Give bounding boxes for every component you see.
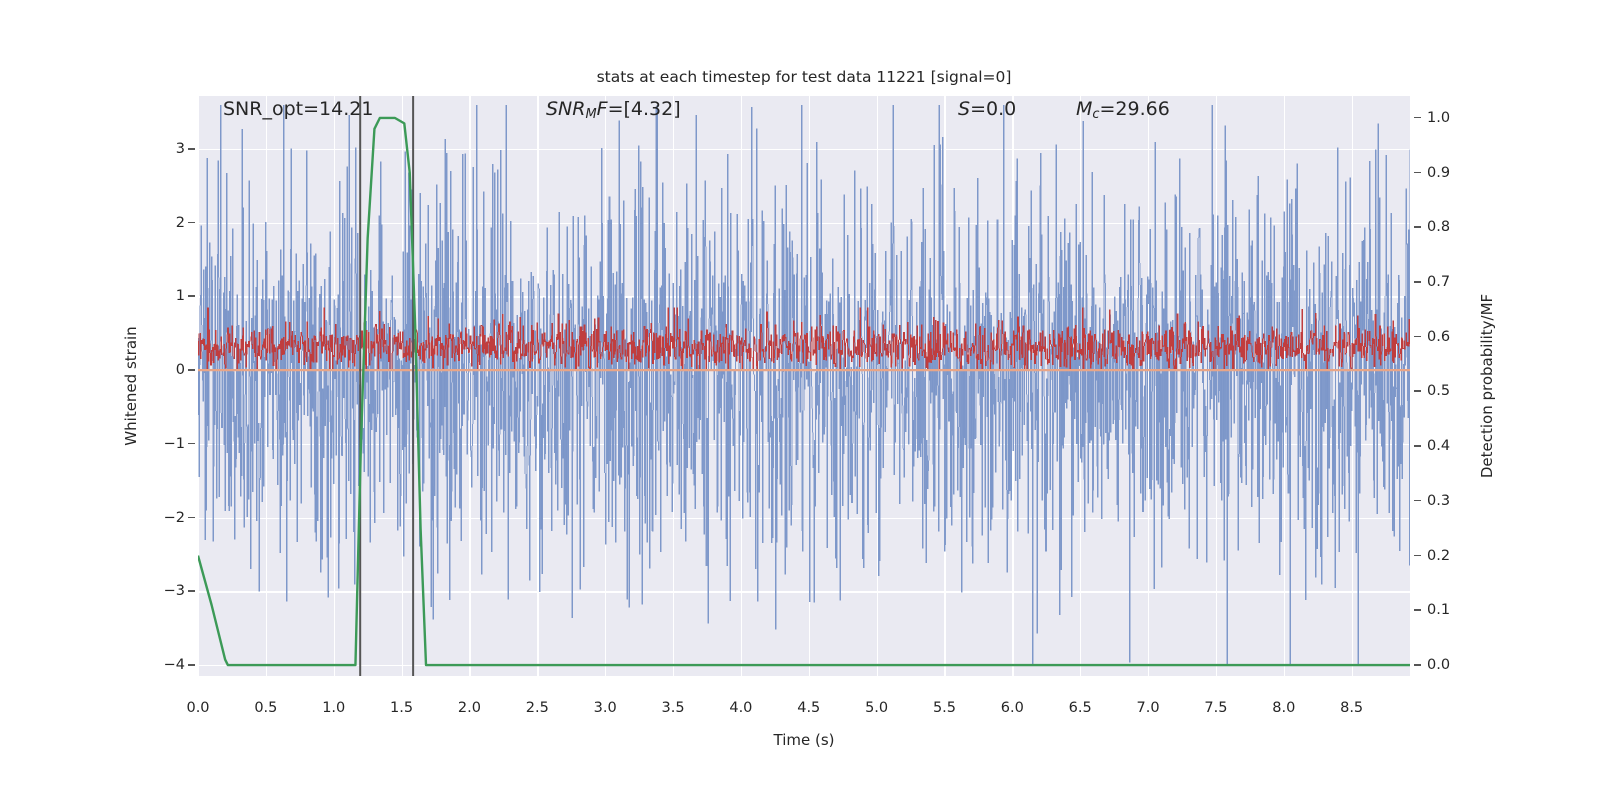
series-signal-plus-noise [198,105,1410,665]
y-tick-label-left: −1 [164,436,185,452]
y-tick-mark-right [1414,117,1421,119]
x-tick-label: 3.5 [661,700,684,716]
x-tick-label: 1.0 [322,700,345,716]
annotation-snr-opt-text: SNR_opt=14.21 [223,98,373,120]
y-tick-mark-right [1414,664,1421,666]
x-tick-label: 6.5 [1069,700,1092,716]
x-axis-label: Time (s) [774,731,835,749]
y-tick-label-right: 0.3 [1427,493,1450,509]
annotation-snr-mf: SNRMF=[4.32] [546,98,681,122]
y-tick-mark-right [1414,281,1421,283]
y-tick-mark-left [188,369,195,371]
y-tick-mark-right [1414,172,1421,174]
x-tick-label: 5.0 [865,700,888,716]
y-tick-label-right: 0.5 [1427,383,1450,399]
y-axis-label-left: Whitened strain [122,326,140,445]
plot-area: SNR_opt=14.21 SNRMF=[4.32] S=0.0 Mc=29.6… [198,96,1410,676]
x-tick-label: 7.0 [1137,700,1160,716]
figure: stats at each timestep for test data 112… [0,0,1600,800]
y-tick-label-right: 0.6 [1427,329,1450,345]
y-tick-label-right: 0.9 [1427,165,1450,181]
y-tick-label-right: 0.0 [1427,657,1450,673]
annotation-s: S=0.0 [958,98,1016,120]
x-tick-label: 8.5 [1340,700,1363,716]
y-axis-label-right: Detection probability/MF [1478,294,1496,478]
data-layer [198,96,1410,676]
y-tick-mark-right [1414,226,1421,228]
y-tick-mark-left [188,148,195,150]
y-tick-label-left: −4 [164,657,185,673]
page-title: stats at each timestep for test data 112… [198,68,1410,86]
y-tick-mark-right [1414,609,1421,611]
y-tick-mark-right [1414,336,1421,338]
y-tick-mark-left [188,443,195,445]
y-tick-label-right: 0.4 [1427,438,1450,454]
y-tick-mark-right [1414,555,1421,557]
x-tick-label: 3.0 [594,700,617,716]
y-tick-mark-left [188,222,195,224]
y-tick-mark-right [1414,390,1421,392]
y-tick-label-right: 0.8 [1427,219,1450,235]
x-tick-label: 7.5 [1204,700,1227,716]
annotation-mc: Mc=29.66 [1076,98,1170,122]
x-tick-label: 0.0 [186,700,209,716]
y-tick-label-right: 1.0 [1427,110,1450,126]
x-tick-label: 5.5 [933,700,956,716]
y-tick-mark-left [188,295,195,297]
x-tick-label: 4.5 [797,700,820,716]
y-tick-label-left: −2 [164,510,185,526]
x-tick-label: 2.5 [526,700,549,716]
annotation-mc-text: Mc=29.66 [1076,98,1170,120]
x-tick-label: 1.5 [390,700,413,716]
x-tick-label: 6.0 [1001,700,1024,716]
annotation-snr-opt: SNR_opt=14.21 [223,98,373,120]
y-tick-label-right: 0.1 [1427,602,1450,618]
x-tick-label: 8.0 [1272,700,1295,716]
y-tick-mark-left [188,664,195,666]
x-tick-label: 4.0 [729,700,752,716]
y-tick-label-left: 1 [176,288,185,304]
chart-svg [198,96,1410,676]
x-tick-label: 0.5 [254,700,277,716]
annotation-snr-mf-text: SNRMF=[4.32] [546,98,681,120]
y-tick-label-left: 3 [176,141,185,157]
y-tick-label-right: 0.7 [1427,274,1450,290]
x-tick-label: 2.0 [458,700,481,716]
y-tick-label-left: −3 [164,583,185,599]
y-tick-label-left: 0 [176,362,185,378]
y-tick-mark-right [1414,500,1421,502]
y-tick-mark-right [1414,445,1421,447]
y-tick-label-left: 2 [176,215,185,231]
annotation-s-text: S=0.0 [958,98,1016,120]
y-tick-mark-left [188,517,195,519]
y-tick-label-right: 0.2 [1427,548,1450,564]
y-tick-mark-left [188,590,195,592]
